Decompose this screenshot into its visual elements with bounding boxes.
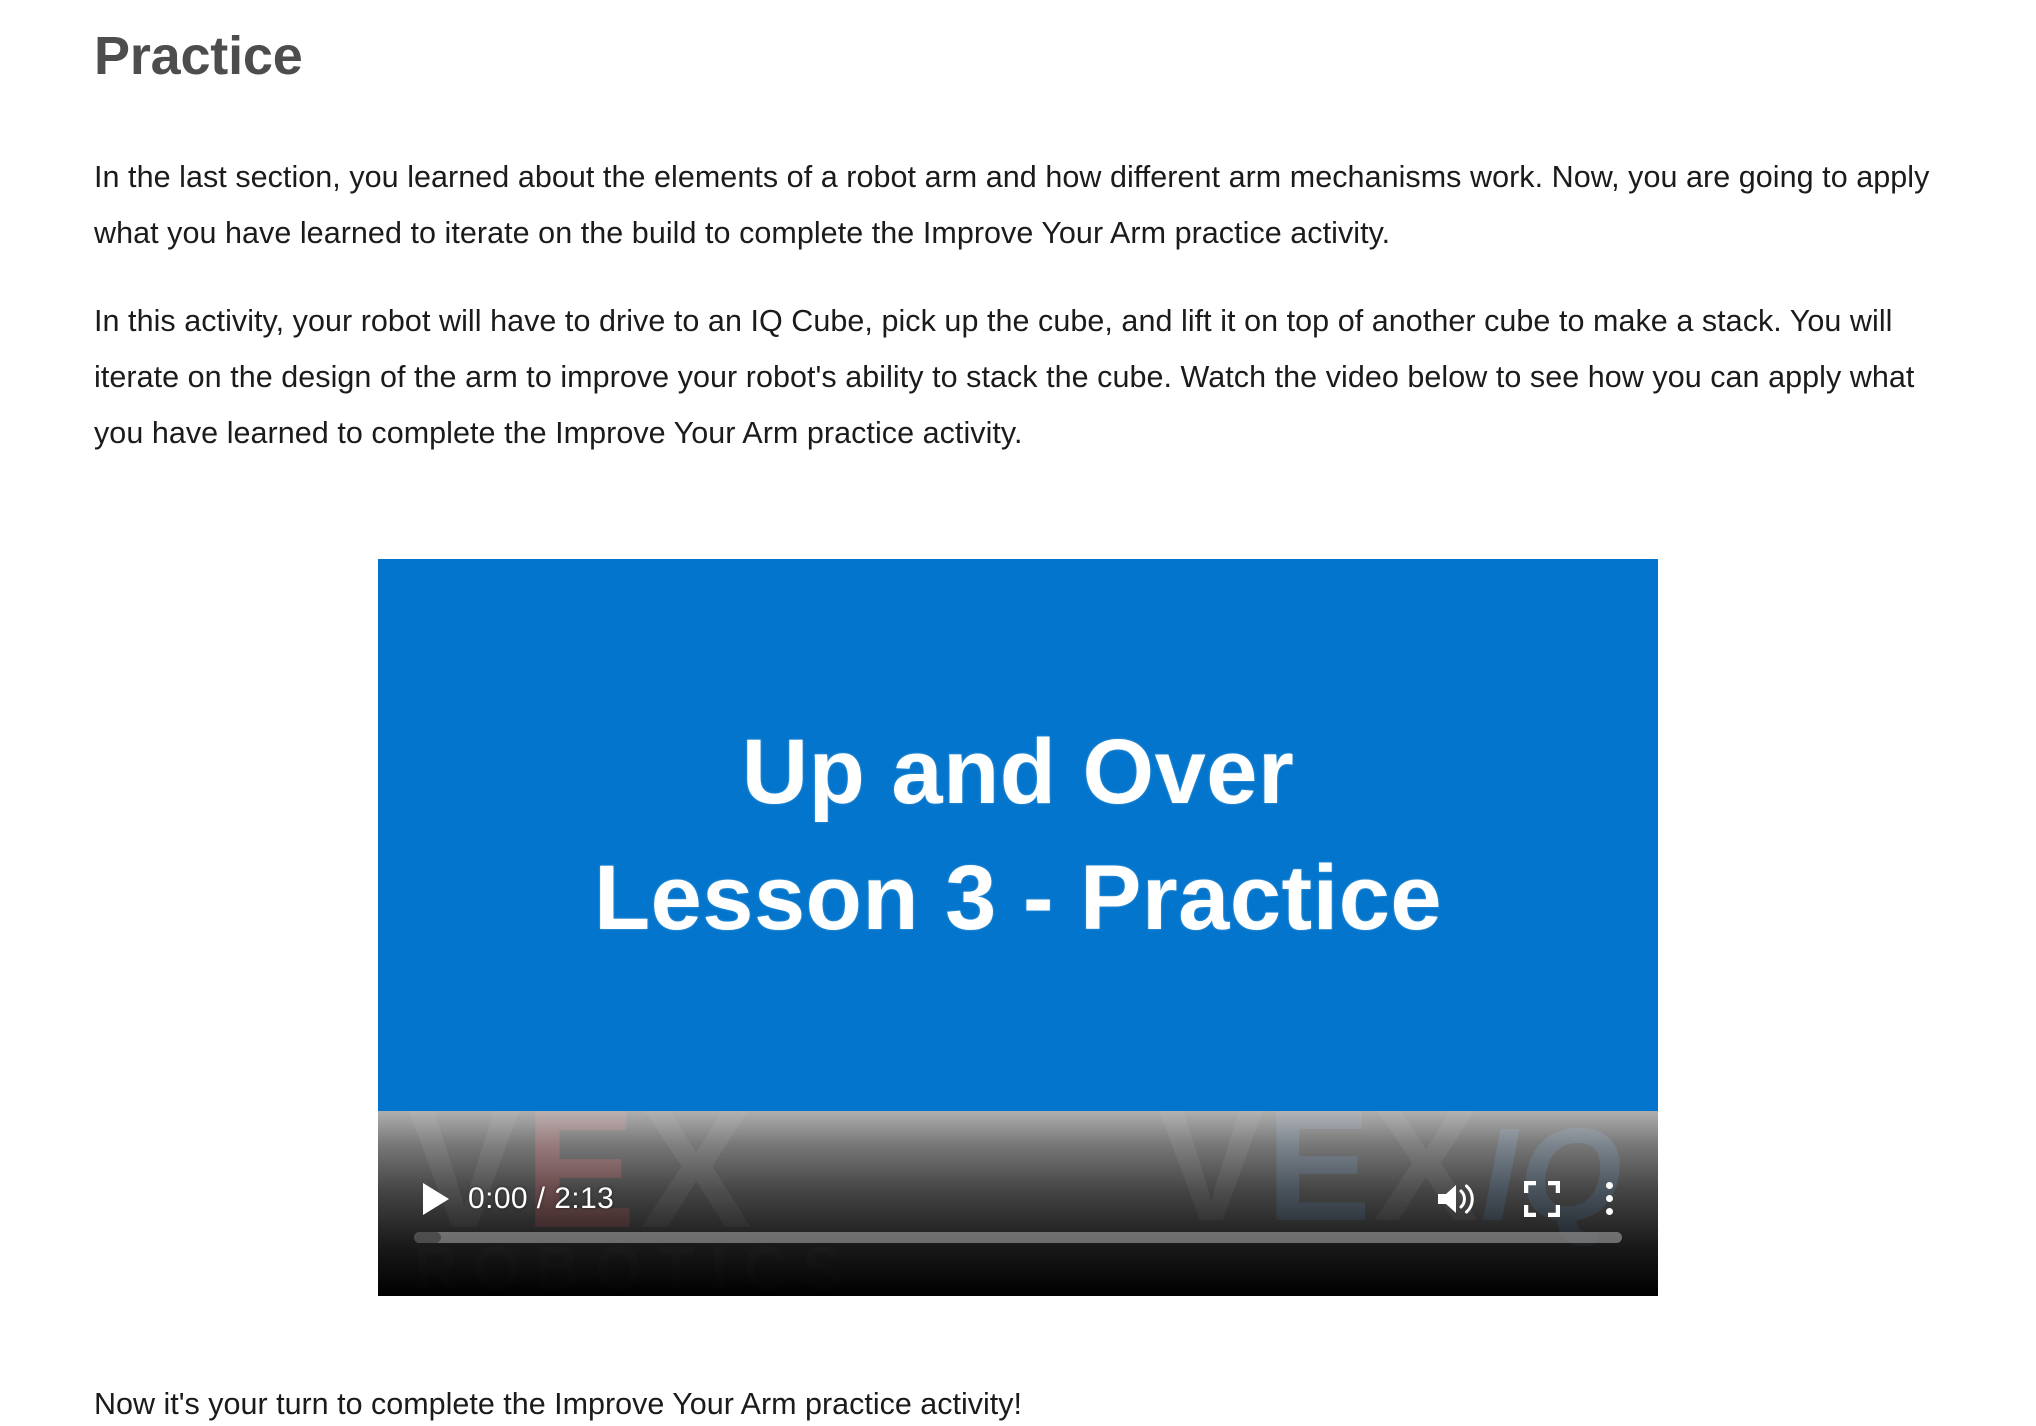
kebab-menu-icon [1606,1179,1613,1218]
poster-title-line-1: Up and Over [742,726,1295,818]
time-display: 0:00 / 2:13 [468,1182,614,1216]
kebab-dot-1 [1606,1182,1613,1189]
video-player[interactable]: Up and Over Lesson 3 - Practice VEX ROBO… [378,559,1658,1296]
video-container: Up and Over Lesson 3 - Practice VEX ROBO… [378,559,1658,1296]
kebab-dot-3 [1606,1208,1613,1215]
page-title: Practice [94,0,1942,89]
closing-paragraph: Now it's your turn to complete the Impro… [94,1382,1942,1426]
kebab-dot-2 [1606,1195,1613,1202]
more-options-button[interactable] [1596,1177,1622,1221]
fullscreen-button[interactable] [1518,1177,1566,1221]
play-button[interactable] [414,1177,458,1221]
video-controls: 0:00 / 2:13 [378,1167,1658,1231]
intro-paragraph: In the last section, you learned about t… [94,149,1942,261]
robotics-wordmark-watermark: ROBOTICS [414,1239,859,1296]
volume-icon [1434,1181,1478,1217]
progress-buffered [414,1232,441,1243]
activity-paragraph: In this activity, your robot will have t… [94,293,1942,461]
practice-page: Practice In the last section, you learne… [0,0,2036,1392]
volume-button[interactable] [1430,1177,1482,1221]
fullscreen-icon [1524,1181,1560,1217]
poster-title-line-2: Lesson 3 - Practice [594,852,1442,944]
play-icon [423,1183,449,1215]
progress-bar[interactable] [414,1232,1622,1243]
video-poster[interactable]: Up and Over Lesson 3 - Practice [378,559,1658,1111]
